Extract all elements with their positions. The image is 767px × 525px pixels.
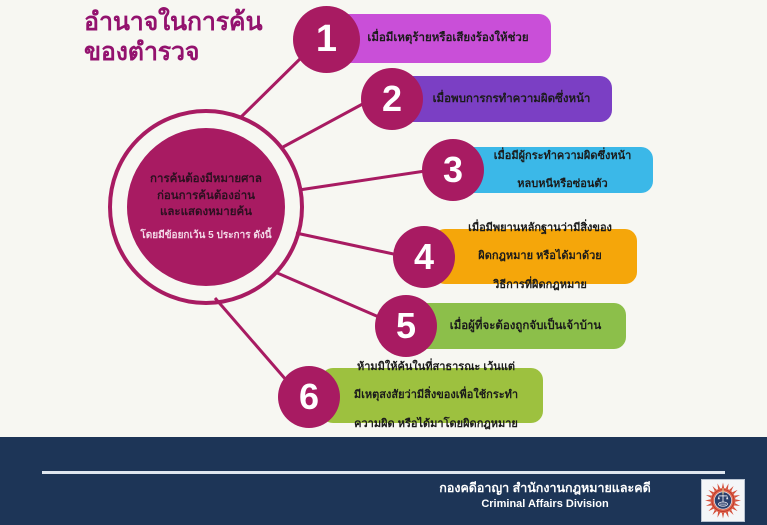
item-1-text-line-1: เมื่อมีเหตุร้ายหรือเสียงร้องให้ช่วย bbox=[355, 31, 541, 46]
item-6-text-line-1: ห้ามมิให้ค้นในที่สาธารณะ เว้นแต่ bbox=[335, 360, 537, 374]
hub-line-2: ก่อนการค้นต้องอ่าน bbox=[150, 188, 262, 205]
item-3-number: 3 bbox=[443, 149, 463, 191]
hub-note: โดยมีข้อยกเว้น 5 ประการ ดังนี้ bbox=[140, 228, 271, 243]
item-3-pill[interactable]: เมื่อมีผู้กระทำความผิดซึ่งหน้า หลบหนีหรื… bbox=[462, 147, 653, 193]
hub-line-1: การค้นต้องมีหมายศาล bbox=[150, 171, 262, 188]
page-title-line-2: ของตำรวจ bbox=[84, 38, 324, 68]
item-6-number-badge[interactable]: 6 bbox=[278, 366, 340, 428]
page-title-line-1: อำนาจในการค้น bbox=[84, 8, 324, 38]
item-5-number: 5 bbox=[396, 305, 416, 347]
item-2-number-badge[interactable]: 2 bbox=[361, 68, 423, 130]
royal-thai-police-emblem-icon bbox=[701, 479, 745, 522]
hub-circle: การค้นต้องมีหมายศาล ก่อนการค้นต้องอ่าน แ… bbox=[127, 128, 285, 286]
item-1-number-badge[interactable]: 1 bbox=[293, 6, 360, 73]
item-2-text-line-1: เมื่อพบการกรทำความผิดซึ่งหน้า bbox=[421, 92, 602, 107]
item-4-number: 4 bbox=[414, 236, 434, 278]
item-4-number-badge[interactable]: 4 bbox=[393, 226, 455, 288]
item-1-number: 1 bbox=[316, 18, 337, 61]
item-4-pill[interactable]: เมื่อมีพยานหลักฐานว่ามีสิ่งของ ผิดกฎหมาย… bbox=[433, 229, 637, 284]
item-6-number: 6 bbox=[299, 376, 319, 418]
item-3-text-line-1: เมื่อมีผู้กระทำความผิดซึ่งหน้า bbox=[480, 149, 645, 163]
item-5-text-line-1: เมื่อผู้ที่จะต้องถูกจับเป็นเจ้าบ้าน bbox=[435, 319, 616, 334]
emblem-svg bbox=[704, 482, 742, 519]
item-1-pill[interactable]: เมื่อมีเหตุร้ายหรือเสียงร้องให้ช่วย bbox=[337, 14, 551, 63]
item-6-text-line-3: ความผิด หรือได้มาโดยผิดกฎหมาย bbox=[335, 417, 537, 431]
item-5-pill[interactable]: เมื่อผู้ที่จะต้องถูกจับเป็นเจ้าบ้าน bbox=[415, 303, 626, 349]
footer-credit-thai: กองคดีอาญา สำนักงานกฎหมายและคดี bbox=[400, 480, 690, 497]
item-2-number: 2 bbox=[382, 78, 402, 120]
infographic-slide: อำนาจในการค้น ของตำรวจ การค้นต้องมีหมายศ… bbox=[0, 0, 767, 525]
footer-credit: กองคดีอาญา สำนักงานกฎหมายและคดี Criminal… bbox=[400, 480, 690, 512]
connector-line-2 bbox=[283, 100, 370, 147]
item-3-text-line-2: หลบหนีหรือซ่อนตัว bbox=[480, 177, 645, 191]
item-6-text-line-2: มีเหตุสงสัยว่ามีสิ่งของเพื่อใช้กระทำ bbox=[335, 388, 537, 402]
item-4-text-line-3: วิธีการที่ผิดกฎหมาย bbox=[451, 278, 629, 292]
item-4-text-line-1: เมื่อมีพยานหลักฐานว่ามีสิ่งของ bbox=[451, 221, 629, 235]
connector-line-3 bbox=[299, 170, 432, 190]
page-title: อำนาจในการค้น ของตำรวจ bbox=[84, 8, 324, 67]
footer-credit-english: Criminal Affairs Division bbox=[400, 497, 690, 512]
hub-line-3: และแสดงหมายค้น bbox=[150, 204, 262, 221]
item-4-text-line-2: ผิดกฎหมาย หรือได้มาด้วย bbox=[451, 249, 629, 263]
footer-divider bbox=[42, 471, 725, 474]
item-2-pill[interactable]: เมื่อพบการกรทำความผิดซึ่งหน้า bbox=[401, 76, 612, 122]
item-6-pill[interactable]: ห้ามมิให้ค้นในที่สาธารณะ เว้นแต่ มีเหตุส… bbox=[321, 368, 543, 423]
item-3-number-badge[interactable]: 3 bbox=[422, 139, 484, 201]
item-5-number-badge[interactable]: 5 bbox=[375, 295, 437, 357]
